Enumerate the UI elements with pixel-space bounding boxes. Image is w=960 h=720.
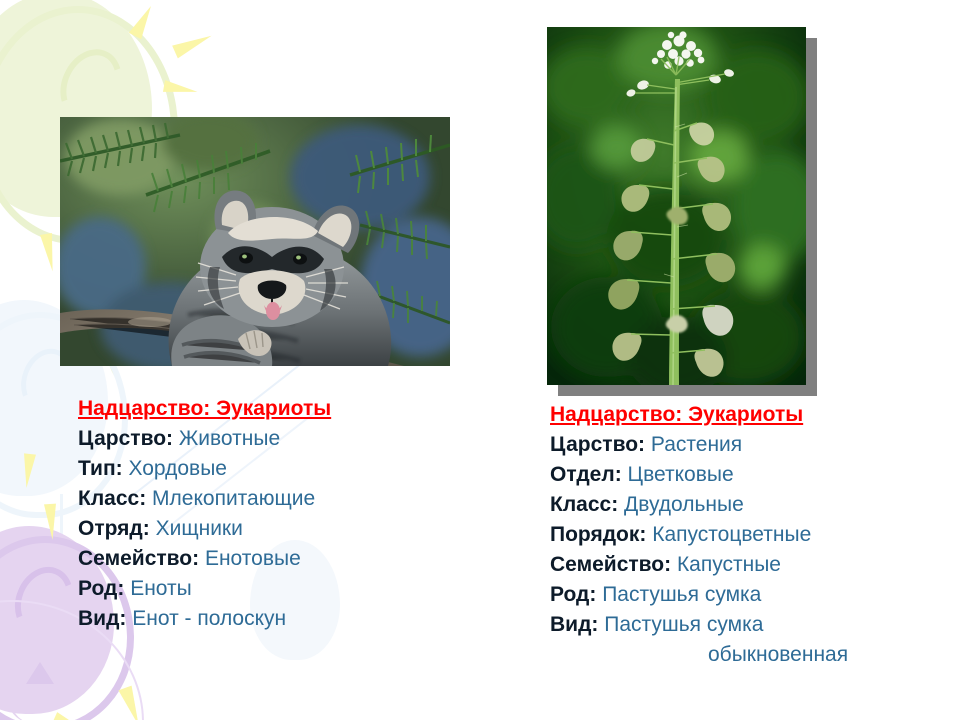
ray-bot-1-icon [35,712,69,720]
ray-top-2-icon [172,29,214,58]
taxonomy-row: Тип: Хордовые [78,454,331,484]
taxonomy-row: Класс: Млекопитающие [78,484,331,514]
taxonomy-row: Вид: Пастушья сумка [550,610,848,640]
taxonomy-label: Род: [550,583,596,606]
taxonomy-row: Царство: Растения [550,430,848,460]
taxonomy-label: Класс: [550,493,618,516]
ray-left-1-icon [40,233,58,273]
taxonomy-header-plant: Надцарство: Эукариоты [550,400,848,430]
taxonomy-value: Животные [179,427,280,450]
ray-left-3-icon [44,504,58,541]
ray-left-2-icon [20,453,35,488]
taxonomy-label: Тип: [78,457,123,480]
ray-bot-3-icon [118,686,145,720]
taxonomy-label: Царство: [550,433,645,456]
taxonomy-row: Семейство: Капустные [550,550,848,580]
raccoon-photo-graphic [60,117,450,366]
taxonomy-value: Млекопитающие [152,487,315,510]
taxonomy-row: Отряд: Хищники [78,514,331,544]
taxonomy-value: Енотовые [205,547,301,570]
plant-photo [547,27,806,385]
taxonomy-row: Вид: Енот - полоскун [78,604,331,634]
taxonomy-value: Двудольные [624,493,744,516]
taxonomy-header-animal: Надцарство: Эукариоты [78,394,331,424]
ray-top-1-icon [129,3,157,40]
taxonomy-label: Класс: [78,487,146,510]
taxonomy-value: Енот - полоскун [132,607,286,630]
taxonomy-row: Семейство: Енотовые [78,544,331,574]
taxonomy-label: Царство: [78,427,173,450]
taxonomy-label: Род: [78,577,124,600]
plant-photo-graphic [547,27,806,385]
raccoon-photo [60,117,450,366]
taxonomy-label: Вид: [550,613,598,636]
taxonomy-value: Хищники [156,517,243,540]
taxonomy-label: Семейство: [78,547,199,570]
taxonomy-value: Цветковые [628,463,734,486]
taxonomy-label: Вид: [78,607,126,630]
taxonomy-label: Порядок: [550,523,646,546]
taxonomy-row: Род: Пастушья сумка [550,580,848,610]
taxonomy-row: Порядок: Капустоцветные [550,520,848,550]
ray-top-3-icon [163,80,199,98]
taxonomy-row: Род: Еноты [78,574,331,604]
taxonomy-value: Капустоцветные [652,523,811,546]
purple-balloon-highlight [5,558,83,644]
taxonomy-value: Пастушья сумка [602,583,761,606]
taxonomy-row: Класс: Двудольные [550,490,848,520]
taxonomy-value: Растения [651,433,742,456]
purple-balloon-knot [26,662,54,684]
taxonomy-row: Царство: Животные [78,424,331,454]
taxonomy-value: Еноты [130,577,192,600]
taxonomy-block-animal: Надцарство: Эукариоты Царство: Животные … [78,394,331,634]
taxonomy-label: Семейство: [550,553,671,576]
taxonomy-value: Пастушья сумка [604,613,763,636]
taxonomy-value: Капустные [677,553,781,576]
purple-balloon-string [8,684,55,720]
taxonomy-row: Отдел: Цветковые [550,460,848,490]
taxonomy-label: Отряд: [78,517,150,540]
taxonomy-value: Хордовые [128,457,227,480]
taxonomy-block-plant: Надцарство: Эукариоты Царство: Растения … [550,400,848,670]
taxonomy-value-continuation: обыкновенная [550,640,848,670]
slide-canvas: Надцарство: Эукариоты Царство: Животные … [0,0,960,720]
taxonomy-label: Отдел: [550,463,622,486]
